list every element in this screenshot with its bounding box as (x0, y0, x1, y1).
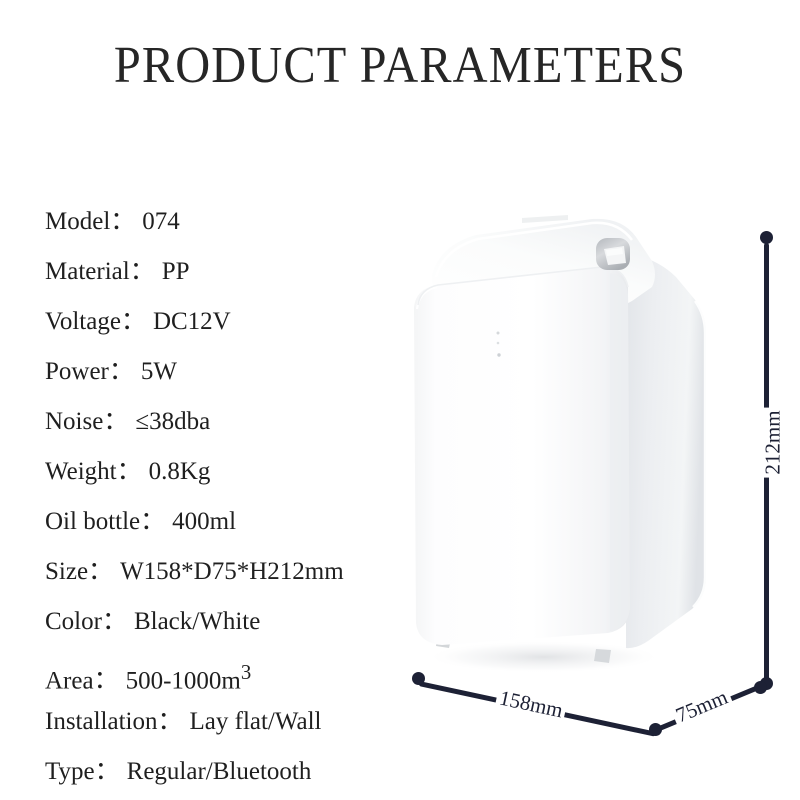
spec-label: Voltage (45, 308, 121, 335)
spec-value: ≤38dba (135, 408, 210, 435)
spec-colon: ： (117, 447, 149, 497)
spec-row-area: Area：500-1000m3 (45, 647, 405, 697)
spec-label: Weight (45, 458, 117, 485)
spec-label: Size (45, 558, 88, 585)
indicator-dot-middle (497, 342, 500, 345)
indicator-dot-upper (497, 332, 500, 335)
product-illustration (396, 205, 736, 675)
spec-label: Type (45, 758, 95, 785)
spec-value: Regular/Bluetooth (127, 758, 312, 785)
dimension-label-height: 212mm (761, 407, 786, 477)
spec-colon: ： (102, 597, 134, 647)
spec-value: Lay flat/Wall (190, 708, 322, 735)
product-side-panel (626, 253, 706, 648)
spec-colon: ： (103, 397, 135, 447)
dimension-label-width: 158mm (494, 685, 568, 724)
spec-label: Oil bottle (45, 508, 140, 535)
spec-value: W158*D75*H212mm (120, 558, 344, 585)
product-image (396, 205, 736, 675)
spec-label: Model (45, 208, 110, 235)
product-top-slot (522, 215, 568, 223)
spec-colon: ： (130, 247, 162, 297)
product-parameters-page: PRODUCT PARAMETERS Model：074 Material：PP… (0, 0, 800, 800)
spec-row-power: Power：5W (45, 347, 405, 397)
spec-value: 0.8Kg (149, 458, 211, 485)
spec-value: DC12V (153, 308, 231, 335)
spec-label: Material (45, 258, 130, 285)
spec-colon: ： (121, 297, 153, 347)
dimension-endpoint-depth-right (754, 681, 767, 694)
spec-value: 074 (142, 208, 180, 235)
spec-row-material: Material：PP (45, 247, 405, 297)
spec-row-size: Size：W158*D75*H212mm (45, 547, 405, 597)
spec-label: Area (45, 667, 94, 694)
spec-row-color: Color：Black/White (45, 597, 405, 647)
spec-row-voltage: Voltage：DC12V (45, 297, 405, 347)
page-title: PRODUCT PARAMETERS (28, 36, 772, 95)
dimension-endpoint-height-top (760, 231, 773, 244)
dimension-label-depth: 75mm (669, 684, 734, 730)
spec-colon: ： (95, 747, 127, 797)
spec-colon: ： (157, 697, 189, 747)
spec-colon: ： (88, 547, 120, 597)
product-foot-right (594, 649, 611, 663)
spec-row-type: Type：Regular/Bluetooth (45, 747, 405, 797)
indicator-dot-lower (497, 353, 500, 356)
spec-row-weight: Weight：0.8Kg (45, 447, 405, 497)
spec-value: 500-1000m (126, 667, 241, 694)
spec-value: 5W (141, 358, 177, 385)
spec-colon: ： (110, 197, 142, 247)
spec-row-noise: Noise：≤38dba (45, 397, 405, 447)
spec-label: Power (45, 358, 109, 385)
dimension-endpoint-width-left (412, 672, 425, 685)
spec-value-superscript: 3 (241, 660, 251, 684)
spec-label: Installation (45, 708, 157, 735)
spec-row-installation: Installation：Lay flat/Wall (45, 697, 405, 747)
spec-row-model: Model：074 (45, 197, 405, 247)
spec-label: Color (45, 608, 102, 635)
spec-value: 400ml (172, 508, 236, 535)
spec-row-oil-bottle: Oil bottle：400ml (45, 497, 405, 547)
spec-value: PP (162, 258, 190, 285)
specification-list: Model：074 Material：PP Voltage：DC12V Powe… (45, 197, 405, 797)
spec-colon: ： (140, 497, 172, 547)
spec-colon: ： (109, 347, 141, 397)
power-button[interactable] (596, 238, 630, 270)
spec-value: Black/White (134, 608, 260, 635)
spec-label: Noise (45, 408, 103, 435)
